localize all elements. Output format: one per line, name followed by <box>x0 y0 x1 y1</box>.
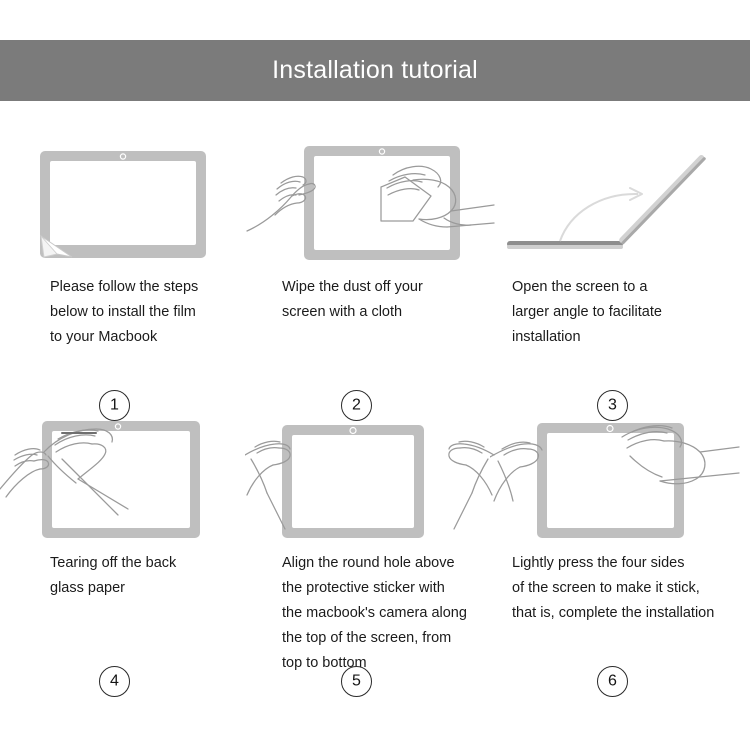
step-number-badge-5: 5 <box>341 666 372 697</box>
tutorial-page: Installation tutorial Please follow the … <box>0 0 750 750</box>
step-5-text: Align the round hole above the protectiv… <box>245 551 532 676</box>
step-number-5: 5 <box>352 673 361 689</box>
step-card-1: Please follow the steps below to install… <box>0 135 250 435</box>
step-2-text: Wipe the dust off your screen with a clo… <box>245 275 532 325</box>
step-6-illustration <box>490 411 740 541</box>
step-1-illustration <box>0 135 250 265</box>
step-number-badge-4: 4 <box>99 666 130 697</box>
header-banner: Installation tutorial <box>0 40 750 101</box>
step-card-2: Wipe the dust off your screen with a clo… <box>245 135 495 435</box>
step-3-illustration <box>490 135 740 265</box>
step-6-line-3: that is, complete the installation <box>512 601 750 626</box>
step-3-line-2: larger angle to facilitate <box>512 300 750 325</box>
step-card-4: Tearing off the back glass paper 4 <box>0 411 250 741</box>
step-6-text: Lightly press the four sides of the scre… <box>490 551 750 626</box>
page-title: Installation tutorial <box>272 58 478 83</box>
step-5-illustration <box>245 411 495 541</box>
steps-grid: Please follow the steps below to install… <box>0 101 750 750</box>
step-3-line-1: Open the screen to a <box>512 275 750 300</box>
step-6-line-2: of the screen to make it stick, <box>512 576 750 601</box>
step-number-4: 4 <box>110 673 119 689</box>
step-4-illustration <box>0 411 250 541</box>
step-6-line-1: Lightly press the four sides <box>512 551 750 576</box>
step-card-3: Open the screen to a larger angle to fac… <box>490 135 740 435</box>
step-card-6: Lightly press the four sides of the scre… <box>490 411 740 741</box>
step-3-text: Open the screen to a larger angle to fac… <box>490 275 750 350</box>
step-3-line-3: installation <box>512 325 750 350</box>
step-card-5: Align the round hole above the protectiv… <box>245 411 495 741</box>
step-2-illustration <box>245 135 495 265</box>
step-number-badge-6: 6 <box>597 666 628 697</box>
step-number-6: 6 <box>608 673 617 689</box>
